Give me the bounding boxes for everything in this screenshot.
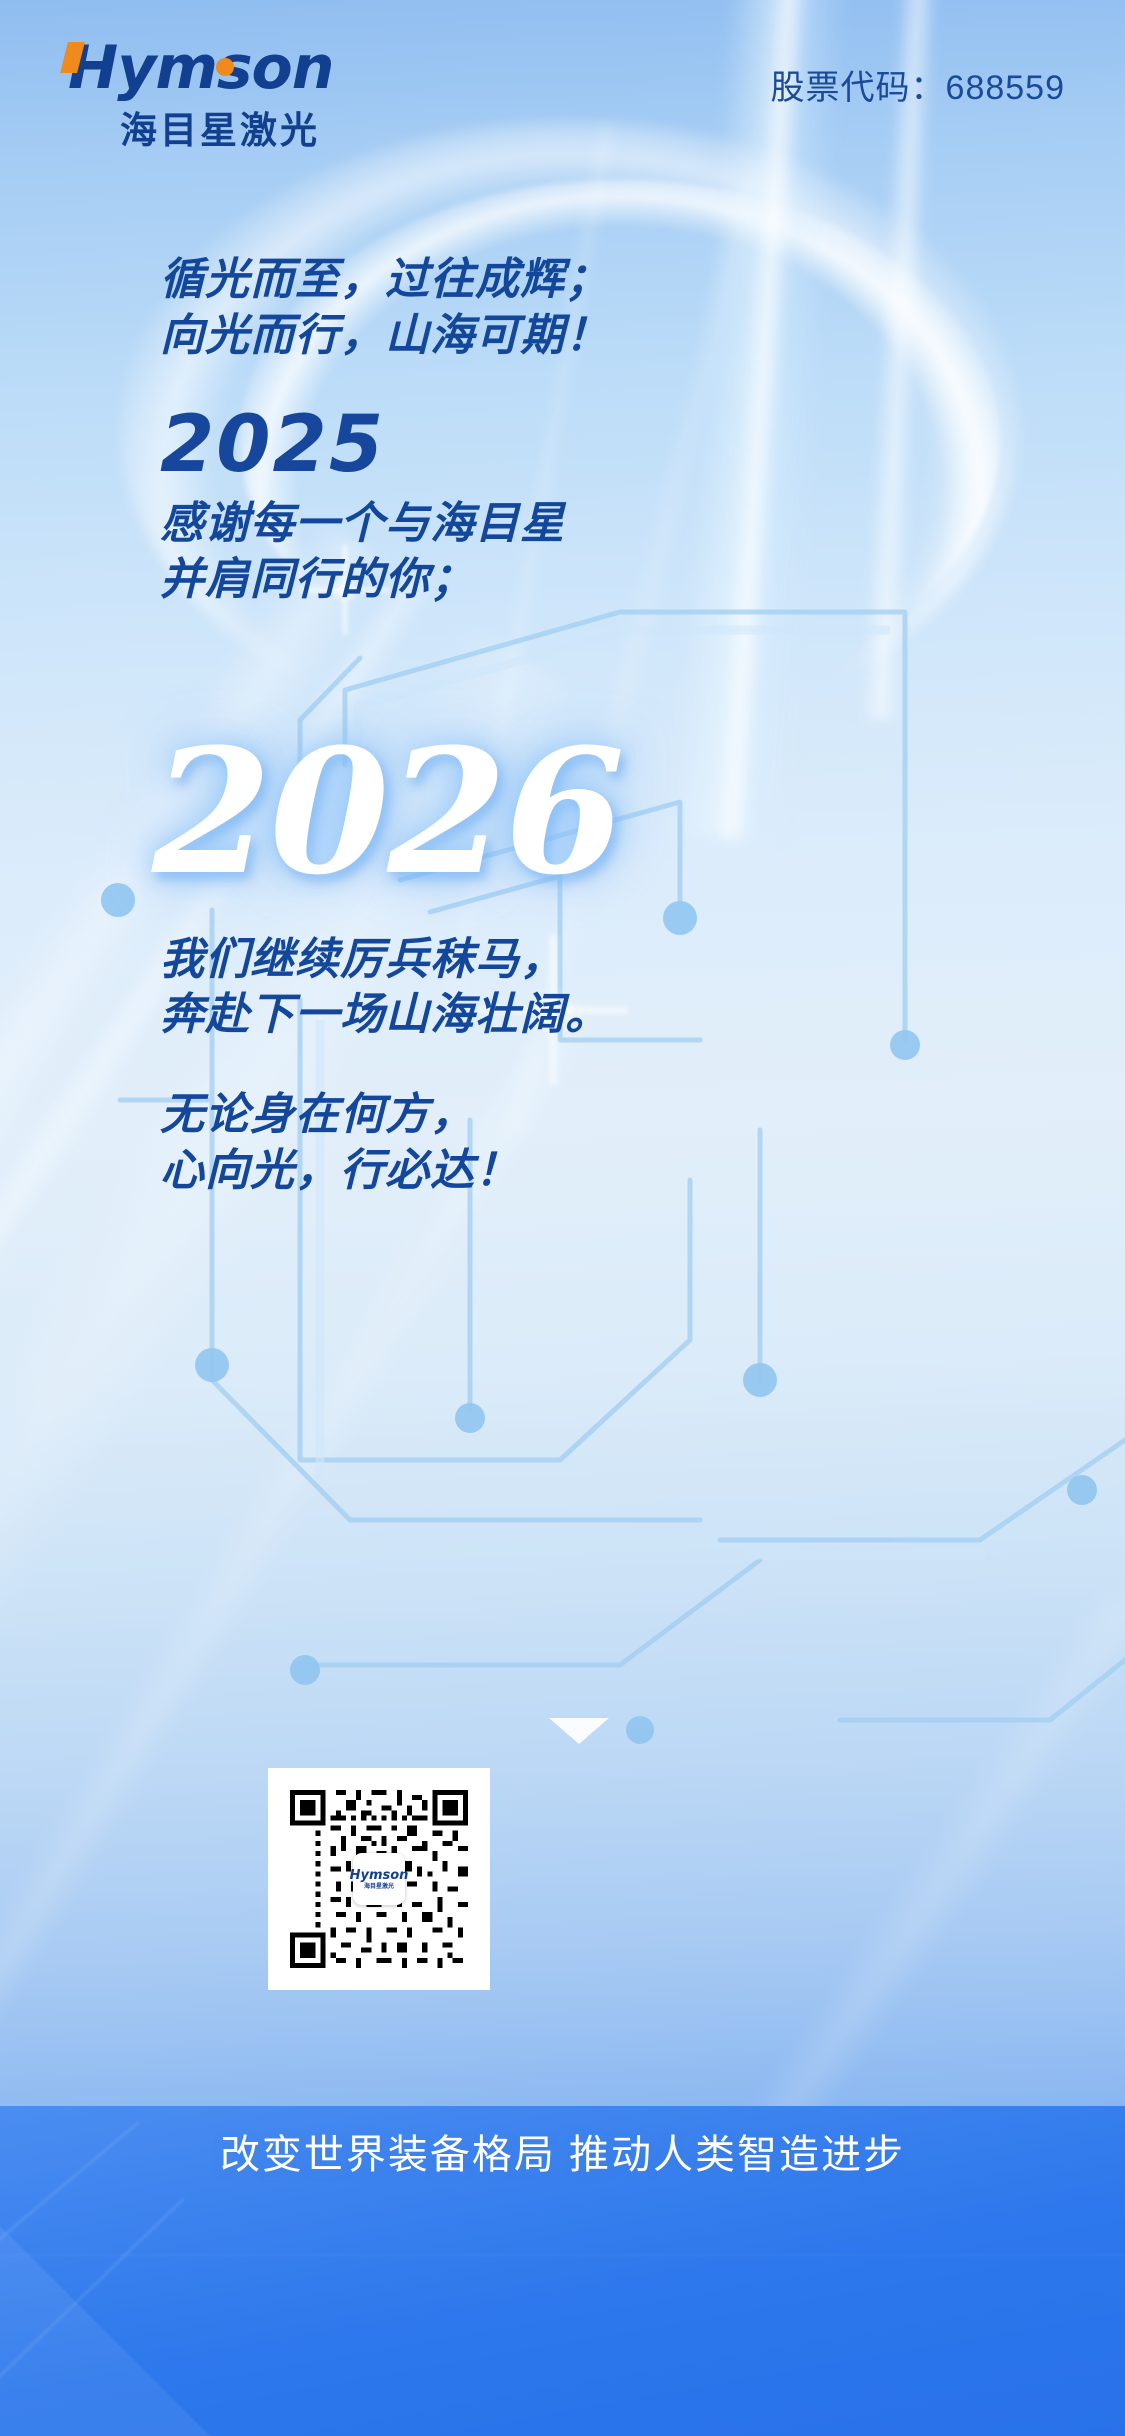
- past-line-2: 并肩同行的你；: [160, 552, 860, 608]
- closing-line-2: 心向光，行必达！: [160, 1143, 860, 1199]
- facet-line: [0, 2198, 185, 2436]
- intro-line-1: 循光而至，过往成辉；: [160, 252, 860, 308]
- closing-line-1: 无论身在何方，: [160, 1087, 860, 1143]
- year-2026: 2026: [152, 726, 860, 898]
- footer-tagline: 改变世界装备格局 推动人类智造进步: [0, 2122, 1125, 2180]
- corner-triangle: [0, 2216, 220, 2436]
- main-copy: 循光而至，过往成辉； 向光而行，山海可期！ 2025 感谢每一个与海目星 并肩同…: [160, 252, 860, 1199]
- intro-line-2: 向光而行，山海可期！: [160, 308, 860, 364]
- qr-logo-chinese-name: 海目星激光: [364, 1884, 394, 1890]
- logo-chinese-name: 海目星激光: [120, 100, 368, 154]
- qr-pointer-arrow-icon: [549, 1718, 609, 1744]
- qr-logo-wordmark: Hymson: [350, 1869, 409, 1882]
- qr-center-logo: Hymson 海目星激光: [353, 1853, 405, 1905]
- past-line-1: 感谢每一个与海目星: [160, 496, 860, 552]
- next-line-2: 奔赴下一场山海壮阔。: [160, 987, 860, 1043]
- stock-code: 股票代码：688559: [771, 60, 1065, 109]
- qr-code-card[interactable]: Hymson 海目星激光: [268, 1768, 490, 1990]
- next-line-1: 我们继续厉兵秣马，: [160, 932, 860, 988]
- brand-logo: Hymson 海目星激光: [68, 38, 368, 154]
- spacer: [160, 608, 860, 726]
- light-ray: [430, 1583, 1125, 2436]
- header: Hymson 海目星激光 股票代码：688559: [0, 0, 1125, 170]
- poster: Hymson 海目星激光 股票代码：688559 循光而至，过往成辉； 向光而行…: [0, 0, 1125, 2436]
- logo-dot-icon: [216, 58, 234, 76]
- year-2025: 2025: [160, 406, 860, 484]
- spacer: [160, 1043, 860, 1087]
- facet-line: [0, 2254, 1125, 2256]
